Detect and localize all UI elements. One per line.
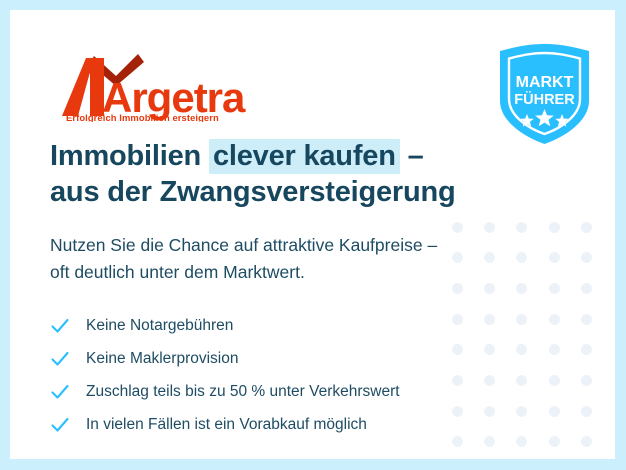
- badge-line2: FÜHRER: [514, 91, 575, 108]
- headline-suffix: –: [400, 140, 424, 172]
- subheadline-line-1: Nutzen Sie die Chance auf attraktive Kau…: [50, 232, 605, 259]
- headline-line-2: aus der Zwangsversteigerung: [50, 174, 605, 210]
- benefits-list: Keine Notargebühren Keine Maklerprovisio…: [50, 316, 605, 435]
- check-icon: [50, 316, 70, 336]
- banner-card: Argetra Erfolgreich Immobilien ersteiger…: [10, 10, 615, 459]
- list-item: Keine Notargebühren: [50, 316, 605, 336]
- page-title: Immobilien clever kaufen – aus der Zwang…: [50, 138, 605, 210]
- list-item: In vielen Fällen ist ein Vorabkauf mögli…: [50, 415, 605, 435]
- market-leader-badge: MARKT FÜHRER: [497, 43, 592, 145]
- shield-badge-icon: MARKT FÜHRER: [497, 43, 592, 145]
- benefit-label: In vielen Fällen ist ein Vorabkauf mögli…: [86, 415, 367, 435]
- check-icon: [50, 382, 70, 402]
- decorative-dot: [484, 436, 495, 447]
- svg-text:Erfolgreich Immobilien ersteig: Erfolgreich Immobilien ersteigern: [66, 112, 219, 122]
- argetra-logo[interactable]: Argetra Erfolgreich Immobilien ersteiger…: [60, 50, 260, 122]
- benefit-label: Zuschlag teils bis zu 50 % unter Verkehr…: [86, 382, 400, 402]
- check-icon: [50, 415, 70, 435]
- banner-content: Immobilien clever kaufen – aus der Zwang…: [50, 138, 605, 435]
- check-icon: [50, 349, 70, 369]
- decorative-dot: [516, 436, 527, 447]
- badge-line1: MARKT: [516, 74, 574, 91]
- decorative-dot: [581, 436, 592, 447]
- subheadline-line-2: oft deutlich unter dem Marktwert.: [50, 259, 605, 286]
- promo-banner: Argetra Erfolgreich Immobilien ersteiger…: [0, 0, 626, 470]
- benefit-label: Keine Notargebühren: [86, 316, 233, 336]
- subheadline: Nutzen Sie die Chance auf attraktive Kau…: [50, 232, 605, 286]
- argetra-logo-icon: Argetra Erfolgreich Immobilien ersteiger…: [60, 50, 260, 122]
- headline-prefix: Immobilien: [50, 140, 209, 172]
- benefit-label: Keine Maklerprovision: [86, 349, 239, 369]
- list-item: Zuschlag teils bis zu 50 % unter Verkehr…: [50, 382, 605, 402]
- headline-highlight: clever kaufen: [209, 139, 400, 174]
- decorative-dot: [549, 436, 560, 447]
- list-item: Keine Maklerprovision: [50, 349, 605, 369]
- decorative-dot: [452, 436, 463, 447]
